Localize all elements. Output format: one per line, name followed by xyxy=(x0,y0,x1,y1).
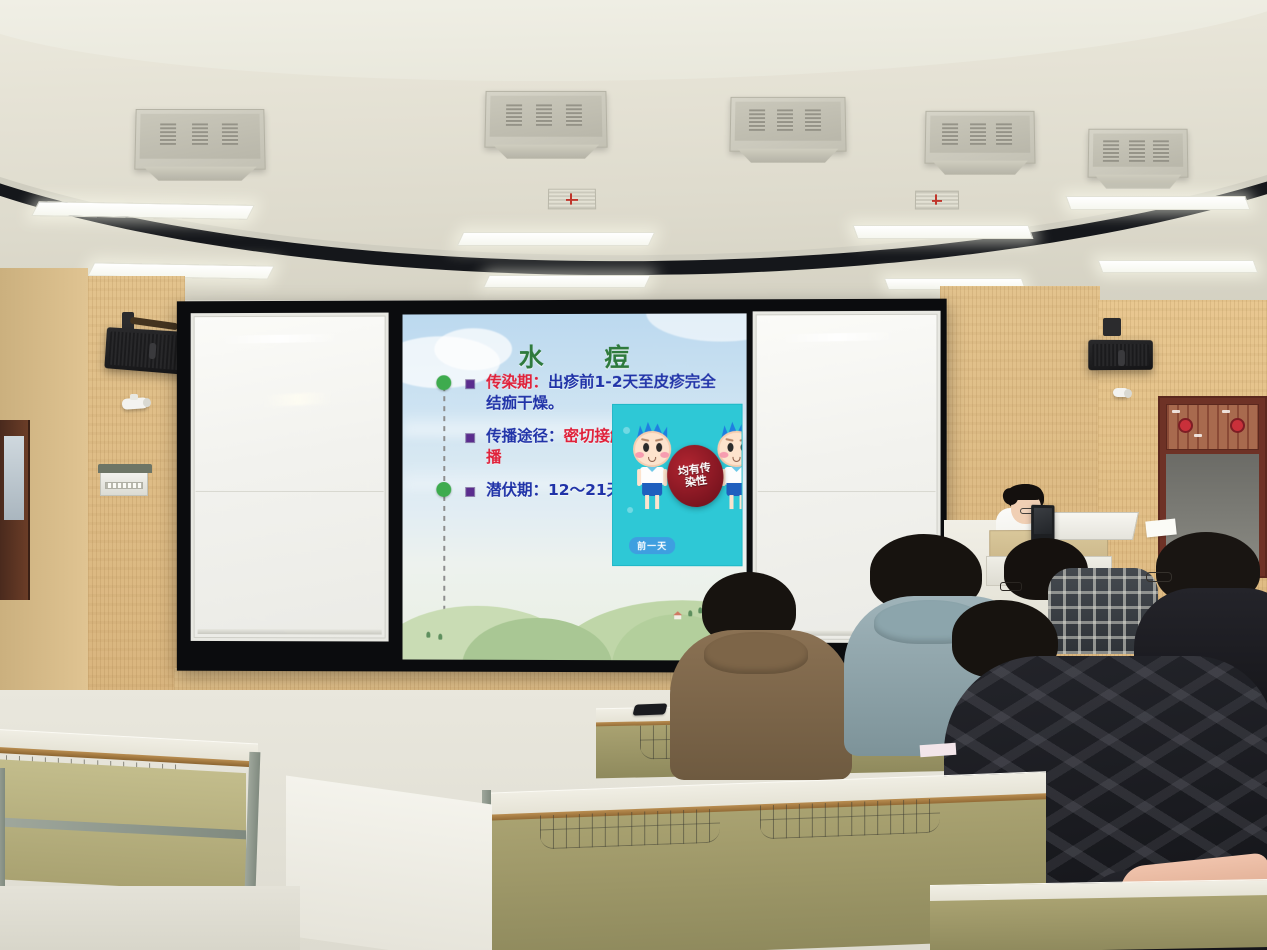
whiteboard-glare xyxy=(220,334,339,344)
ac-vent-unit xyxy=(134,109,265,170)
desk-wire-basket xyxy=(540,809,720,850)
ac-vent-unit xyxy=(729,97,846,152)
camera-mount-left xyxy=(130,394,138,400)
door-decor-knob xyxy=(1232,420,1243,431)
slide-tree xyxy=(426,632,430,638)
ceiling xyxy=(0,0,1267,330)
cartoon-badge-text: 均有传染性 xyxy=(673,462,718,491)
paper-on-podium xyxy=(1145,518,1177,537)
slide-title: 水 痘 xyxy=(403,337,747,374)
cartoon-arm xyxy=(637,469,641,486)
desk-right-front xyxy=(930,895,1267,950)
electrical-panel[interactable] xyxy=(100,470,148,496)
desk-wire-basket xyxy=(760,799,940,840)
slide-house xyxy=(674,614,681,619)
cartoon-leg xyxy=(740,495,743,509)
speaker-right xyxy=(1088,340,1153,370)
cartoon-eye xyxy=(741,443,743,452)
door-highlight xyxy=(1194,434,1202,437)
door-highlight xyxy=(1172,410,1180,413)
speaker-bracket-right xyxy=(1103,318,1121,336)
ceiling-diffuser-vent xyxy=(548,189,596,210)
lecture-hall-photo: 水 痘 传染期：出疹前1-2天至皮疹完全结痂干燥。 传播途径：密切接触及空气飞沫… xyxy=(0,0,1267,950)
cartoon-eye xyxy=(727,443,733,452)
door-highlight xyxy=(1222,410,1230,413)
bullet-square-icon xyxy=(466,487,474,495)
paper-on-desk xyxy=(920,743,957,757)
slide-tree xyxy=(688,610,692,616)
student-glasses xyxy=(1146,572,1172,582)
cartoon-leg xyxy=(645,495,649,509)
student-hood xyxy=(704,632,808,674)
ceiling-strip-light xyxy=(483,275,651,288)
podium-top-surface xyxy=(1041,512,1139,540)
ceiling-strip-light xyxy=(852,225,1033,239)
timeline-dashed-line xyxy=(443,376,445,647)
timeline-marker-dot xyxy=(436,482,451,497)
bullet-segment: 传染期： xyxy=(486,373,548,391)
cartoon-cheek xyxy=(719,452,728,458)
timeline-marker-dot xyxy=(436,375,451,390)
smartphone-on-desk[interactable] xyxy=(632,703,667,715)
cartoon-leg xyxy=(729,495,733,509)
slide-cartoon-image: 均有传染性 前一天 xyxy=(612,404,743,567)
cartoon-eye xyxy=(643,443,649,452)
monitor-screen xyxy=(1034,508,1052,534)
bullet-square-icon xyxy=(466,434,474,442)
cartoon-day-label: 前一天 xyxy=(629,537,675,554)
projected-slide: 水 痘 传染期：出疹前1-2天至皮疹完全结痂干燥。 传播途径：密切接触及空气飞沫… xyxy=(403,313,747,660)
side-door-left[interactable] xyxy=(0,420,30,600)
cartoon-eyebrow xyxy=(739,438,742,442)
podium-monitor[interactable] xyxy=(1031,505,1054,542)
panel-lid xyxy=(98,464,152,473)
student-glasses xyxy=(1000,582,1022,591)
door-glass xyxy=(4,436,24,520)
bullet-segment: 传播途径： xyxy=(486,427,563,445)
cartoon-cheek xyxy=(635,452,644,458)
ac-vent-unit xyxy=(1088,129,1189,178)
bullet-square-icon xyxy=(466,380,474,388)
ceiling-diffuser-vent xyxy=(915,191,959,210)
whiteboard-seam xyxy=(196,491,384,492)
whiteboard-glare xyxy=(262,391,332,407)
panel-breakers xyxy=(105,482,143,489)
cartoon-cheek xyxy=(660,452,669,458)
slide-tree xyxy=(438,634,442,640)
ceiling-strip-light xyxy=(1098,260,1259,273)
whiteboard-glare xyxy=(781,333,894,343)
ac-vent-unit xyxy=(484,91,607,148)
security-camera-right xyxy=(1113,388,1129,397)
ceiling-strip-light xyxy=(1065,196,1250,210)
floor-strip xyxy=(0,886,300,950)
cartoon-leg xyxy=(655,495,659,509)
cartoon-eye xyxy=(656,443,662,452)
whiteboard-seam xyxy=(758,491,936,492)
ac-vent-unit xyxy=(924,111,1035,164)
projection-screen-frame: 水 痘 传染期：出疹前1-2天至皮疹完全结痂干燥。 传播途径：密切接触及空气飞沫… xyxy=(177,299,947,674)
ceiling-strip-light xyxy=(457,232,656,246)
ceiling-strip-light xyxy=(31,201,255,220)
whiteboard-left[interactable] xyxy=(191,313,389,642)
desk-side-panel xyxy=(286,776,492,950)
door-decor-knob xyxy=(1180,420,1191,431)
whiteboard-tray xyxy=(198,629,382,634)
